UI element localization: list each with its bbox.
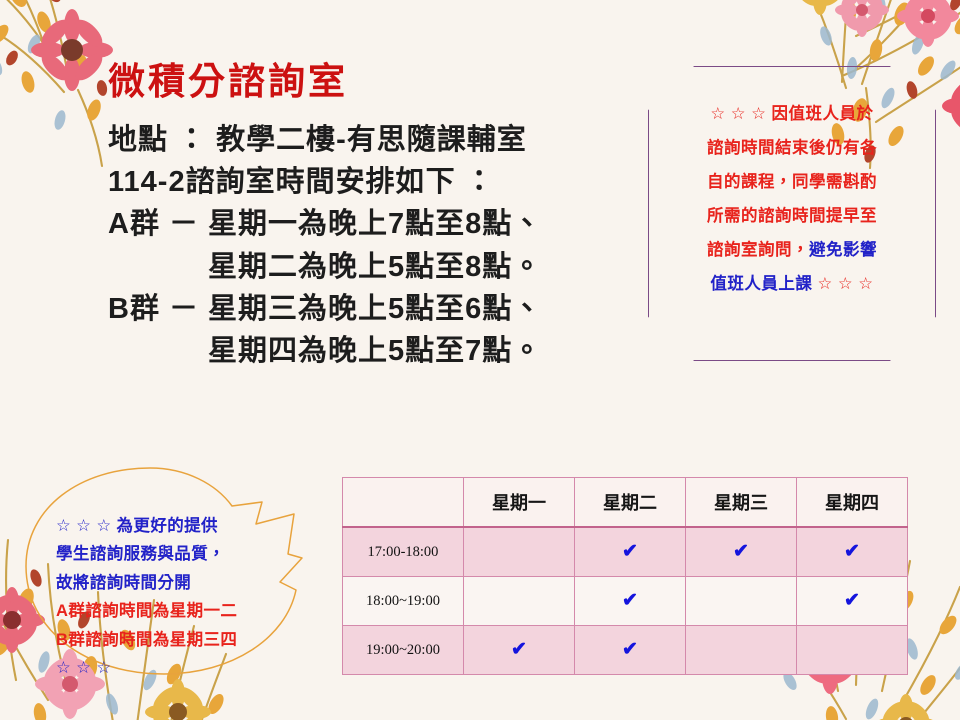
table-cell-r1-c1: ✔: [464, 527, 575, 577]
table-header-cell-day-4: 星期四: [797, 478, 908, 528]
info-line-5: B群 － 星期三為晚上5點至6點、: [108, 288, 668, 330]
table-cell-r2-c4: ✔: [797, 577, 908, 626]
table-header-cell-day-3: 星期三: [686, 478, 797, 528]
bubble-line-2: 學生諮詢服務與品質，: [56, 540, 306, 568]
table-row: 18:00~19:00✔✔✔✔: [343, 577, 908, 626]
bubble-line-1: ☆ ☆ ☆ 為更好的提供: [56, 512, 306, 540]
notice-line-1-segment-1: ☆ ☆ ☆ 因值班人員於: [710, 105, 873, 123]
table-cell-time-1: 17:00-18:00: [343, 527, 464, 577]
notice-line-4-segment-1: 所需的諮詢時間提早至: [707, 207, 877, 225]
table-cell-r3-c1: ✔: [464, 626, 575, 675]
notice-line-5: 諮詢室詢問，避免影響: [648, 234, 936, 268]
info-line-4: 星期二為晚上5點至8點。: [108, 246, 668, 288]
table-row: 17:00-18:00✔✔✔✔: [343, 527, 908, 577]
schedule-table-head: 星期一星期二星期三星期四: [343, 478, 908, 528]
check-icon: ✔: [622, 541, 638, 562]
slide-canvas: 微積分諮詢室 地點 ： 教學二樓-有思隨課輔室114-2諮詢室時間安排如下 ：A…: [0, 0, 960, 720]
notice-line-5-segment-2: 避免影響: [809, 241, 877, 259]
notice-line-2: 諮詢時間結束後仍有各: [648, 132, 936, 166]
bubble-line-3: 故將諮詢時間分開: [56, 569, 306, 597]
table-cell-r3-c3: ✔: [686, 626, 797, 675]
table-cell-r1-c3: ✔: [686, 527, 797, 577]
check-icon: ✔: [844, 590, 860, 611]
page-title: 微積分諮詢室: [108, 62, 668, 103]
notice-line-6: 值班人員上課 ☆ ☆ ☆: [648, 268, 936, 302]
speech-bubble-text-block: ☆ ☆ ☆ 為更好的提供學生諮詢服務與品質，故將諮詢時間分開A群諮詢時間為星期一…: [56, 512, 306, 682]
notice-line-6-segment-2: ☆ ☆ ☆: [812, 275, 873, 293]
info-line-2: 114-2諮詢室時間安排如下 ：: [108, 161, 668, 203]
table-header-cell-day-2: 星期二: [575, 478, 686, 528]
table-header-cell-day-1: 星期一: [464, 478, 575, 528]
table-cell-r3-c2: ✔: [575, 626, 686, 675]
bubble-line-5: B群諮詢時間為星期三四: [56, 626, 306, 654]
table-cell-r1-c2: ✔: [575, 527, 686, 577]
notice-line-3-segment-1: 自的課程，同學需斟酌: [707, 173, 877, 191]
info-line-1: 地點 ： 教學二樓-有思隨課輔室: [108, 119, 668, 161]
notice-line-5-segment-1: 諮詢室詢問，: [707, 241, 809, 259]
notice-line-1: ☆ ☆ ☆ 因值班人員於: [648, 98, 936, 132]
schedule-table-body: 17:00-18:00✔✔✔✔18:00~19:00✔✔✔✔19:00~20:0…: [343, 527, 908, 675]
table-cell-time-3: 19:00~20:00: [343, 626, 464, 675]
notice-line-4: 所需的諮詢時間提早至: [648, 200, 936, 234]
check-icon: ✔: [511, 639, 527, 660]
info-lines-group: 地點 ： 教學二樓-有思隨課輔室114-2諮詢室時間安排如下 ：A群 － 星期一…: [108, 119, 668, 373]
headline-block: 微積分諮詢室 地點 ： 教學二樓-有思隨課輔室114-2諮詢室時間安排如下 ：A…: [108, 62, 668, 373]
table-header-cell-blank: [343, 478, 464, 528]
notice-text-block: ☆ ☆ ☆ 因值班人員於諮詢時間結束後仍有各自的課程，同學需斟酌所需的諮詢時間提…: [648, 98, 936, 302]
check-icon: ✔: [733, 541, 749, 562]
table-header-row: 星期一星期二星期三星期四: [343, 478, 908, 528]
schedule-table: 星期一星期二星期三星期四 17:00-18:00✔✔✔✔18:00~19:00✔…: [342, 477, 908, 675]
check-icon: ✔: [844, 541, 860, 562]
table-row: 19:00~20:00✔✔✔✔: [343, 626, 908, 675]
info-line-6: 星期四為晚上5點至7點。: [108, 330, 668, 372]
table-cell-r2-c1: ✔: [464, 577, 575, 626]
notice-line-6-segment-1: 值班人員上課: [710, 275, 812, 293]
bubble-line-6: ☆ ☆ ☆: [56, 654, 306, 682]
table-cell-r1-c4: ✔: [797, 527, 908, 577]
table-cell-time-2: 18:00~19:00: [343, 577, 464, 626]
table-cell-r2-c2: ✔: [575, 577, 686, 626]
notice-line-3: 自的課程，同學需斟酌: [648, 166, 936, 200]
check-icon: ✔: [622, 590, 638, 611]
check-icon: ✔: [622, 639, 638, 660]
table-cell-r2-c3: ✔: [686, 577, 797, 626]
table-cell-r3-c4: ✔: [797, 626, 908, 675]
bubble-line-4: A群諮詢時間為星期一二: [56, 597, 306, 625]
notice-line-2-segment-1: 諮詢時間結束後仍有各: [707, 139, 877, 157]
info-line-3: A群 － 星期一為晚上7點至8點、: [108, 203, 668, 245]
